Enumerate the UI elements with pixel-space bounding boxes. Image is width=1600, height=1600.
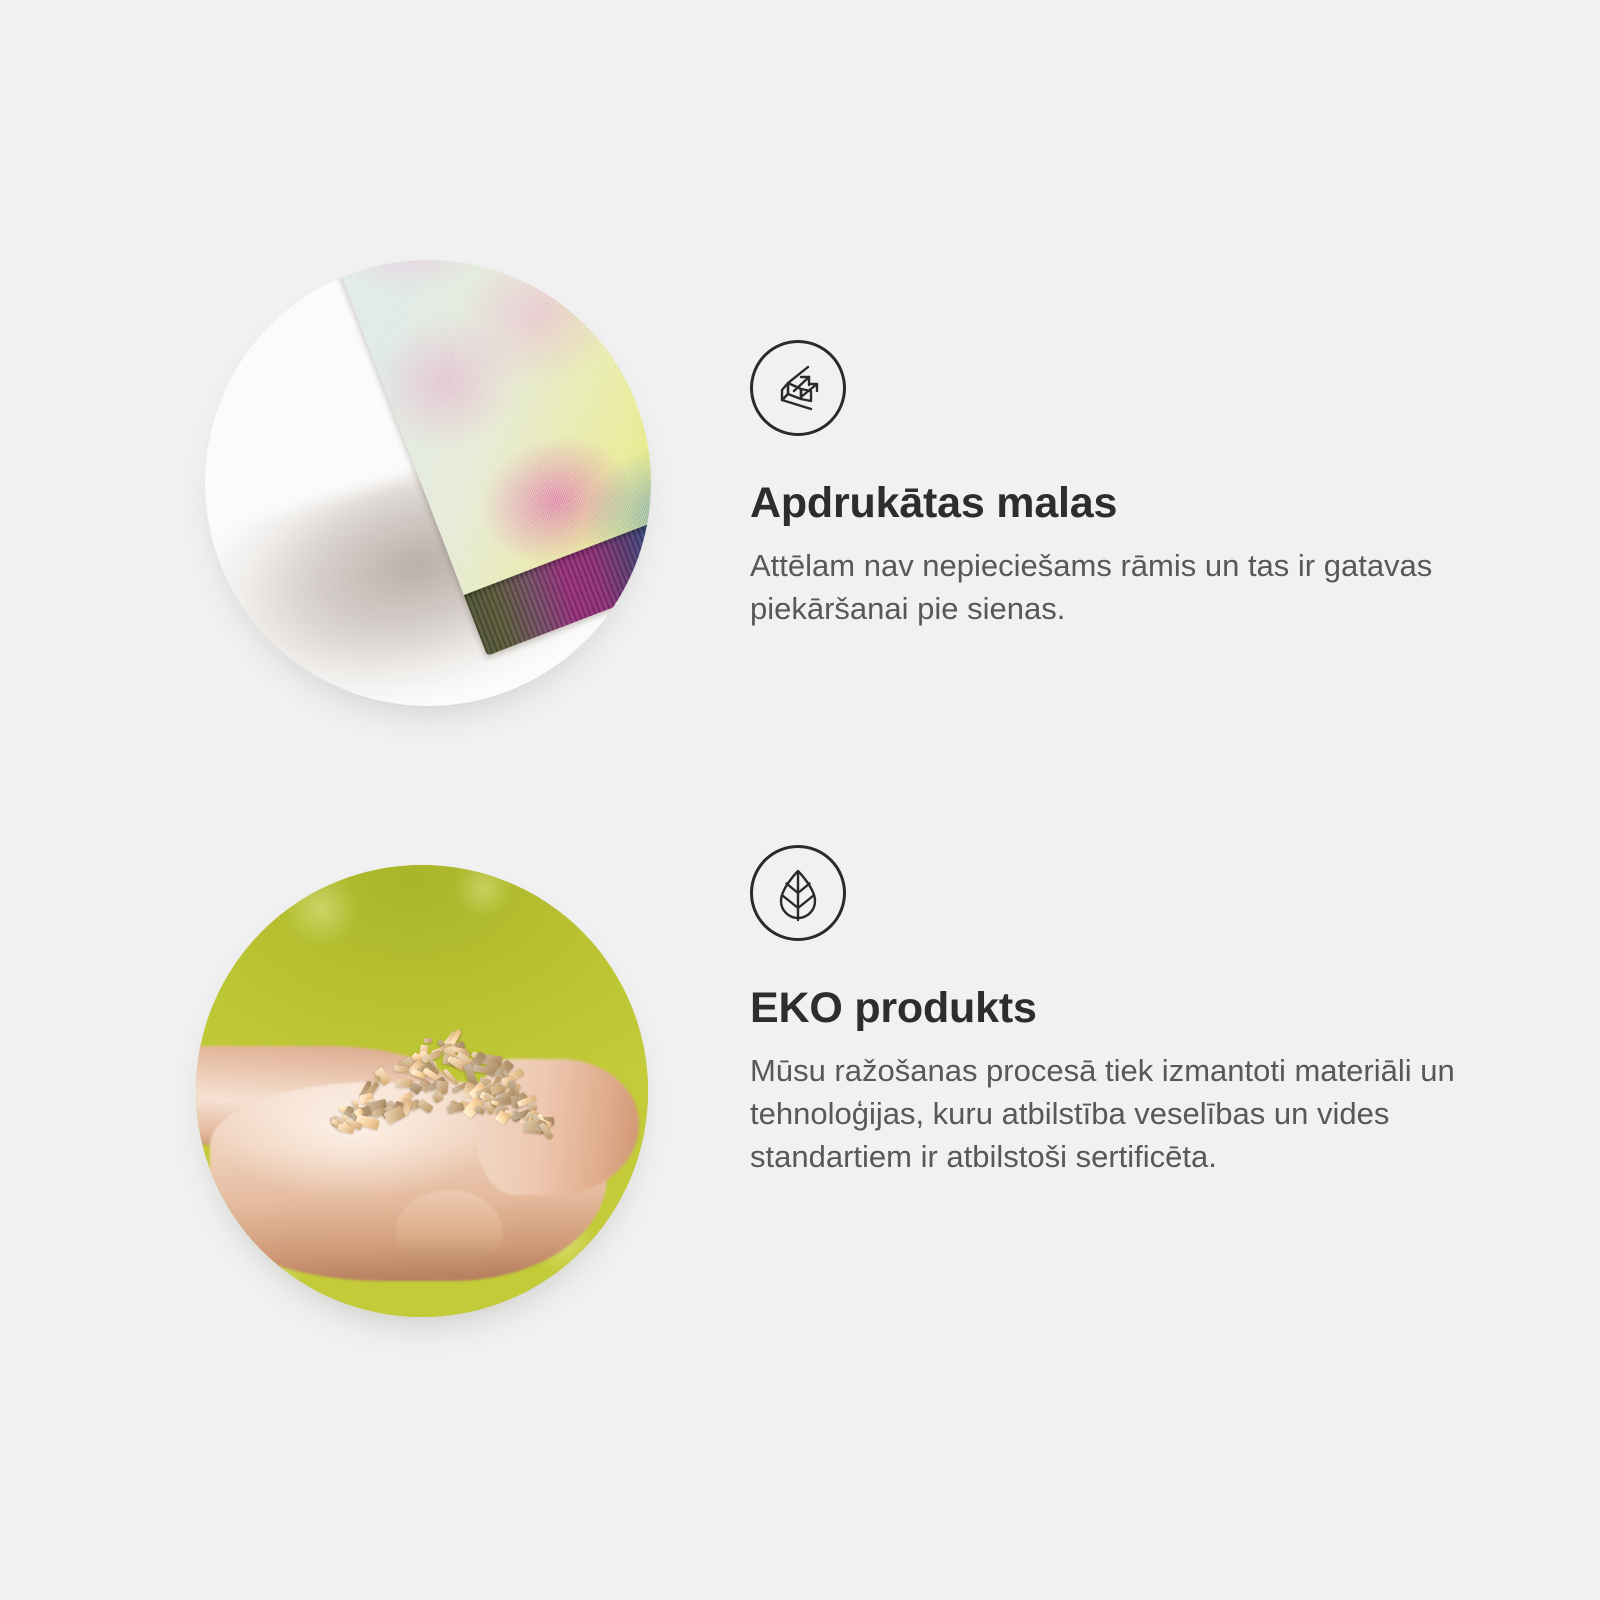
feature-block-printed-edges: Apdrukātas malas Attēlam nav nepieciešam… <box>0 230 1600 790</box>
wood-chips-pile <box>314 1010 558 1173</box>
feature-list-page: Apdrukātas malas Attēlam nav nepieciešam… <box>0 0 1600 1600</box>
printed-edges-icon <box>750 340 846 436</box>
wood-chip <box>394 1065 410 1073</box>
feature-description: Mūsu ražošanas procesā tiek izmantoti ma… <box>750 1050 1470 1178</box>
feature-description: Attēlam nav nepieciešams rāmis un tas ir… <box>750 545 1470 631</box>
feature-title: Apdrukātas malas <box>750 480 1510 527</box>
wood-chip <box>424 1038 433 1044</box>
feature-image-printed-edges <box>205 260 651 706</box>
wood-chip <box>474 1105 486 1115</box>
feature-text-eco-product: EKO produkts Mūsu ražošanas procesā tiek… <box>750 845 1510 1179</box>
leaf-icon <box>750 845 846 941</box>
feature-title: EKO produkts <box>750 985 1510 1032</box>
feature-image-eco-product <box>196 865 648 1317</box>
feature-block-eco-product: EKO produkts Mūsu ražošanas procesā tiek… <box>0 845 1600 1405</box>
feature-text-printed-edges: Apdrukātas malas Attēlam nav nepieciešam… <box>750 340 1510 631</box>
wood-chip <box>417 1098 434 1113</box>
